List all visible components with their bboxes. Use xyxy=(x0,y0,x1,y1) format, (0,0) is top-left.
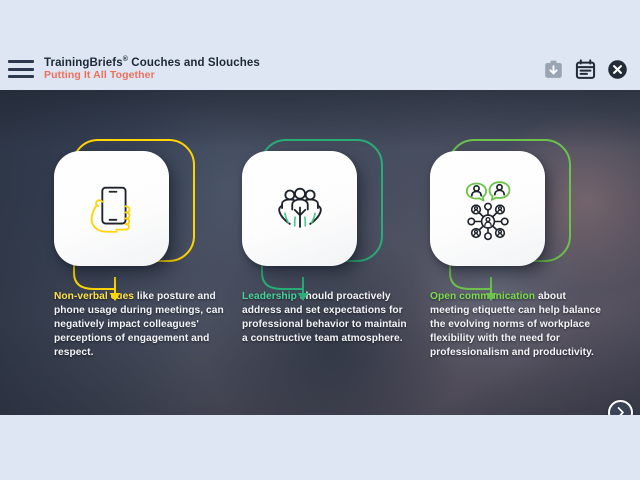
notes-calendar-icon[interactable] xyxy=(575,59,596,80)
hamburger-line xyxy=(8,68,34,71)
icon-card[interactable] xyxy=(430,151,545,266)
icon-card[interactable] xyxy=(54,151,169,266)
hamburger-line xyxy=(8,75,34,78)
title-course: Couches and Slouches xyxy=(128,57,260,69)
playback-controls xyxy=(608,400,633,415)
close-icon[interactable] xyxy=(607,59,628,80)
icon-card-wrap xyxy=(424,145,584,275)
content-columns: Non-verbal cues like posture and phone u… xyxy=(0,90,640,415)
header-bar: TrainingBriefs® Couches and Slouches Put… xyxy=(0,48,640,90)
next-button[interactable] xyxy=(608,400,633,415)
icon-card[interactable] xyxy=(242,151,357,266)
team-in-hands-icon xyxy=(269,178,331,240)
slide-stage: Non-verbal cues like posture and phone u… xyxy=(0,90,640,415)
icon-card-wrap xyxy=(48,145,208,275)
content-column: Leadership should proactively address an… xyxy=(236,90,428,415)
chevron-right-icon xyxy=(614,406,627,415)
phone-in-hand-icon xyxy=(81,178,143,240)
hamburger-line xyxy=(8,60,34,63)
header-icon-group xyxy=(543,59,628,80)
page-title: TrainingBriefs® Couches and Slouches xyxy=(44,56,543,70)
slide-player: TrainingBriefs® Couches and Slouches Put… xyxy=(0,0,640,480)
hamburger-menu-icon[interactable] xyxy=(8,59,34,79)
communication-network-icon xyxy=(456,177,520,241)
title-block: TrainingBriefs® Couches and Slouches Put… xyxy=(44,56,543,82)
content-column: Open communication about meeting etiquet… xyxy=(424,90,616,415)
icon-card-wrap xyxy=(236,145,396,275)
page-subtitle: Putting It All Together xyxy=(44,70,543,82)
title-brand: TrainingBriefs xyxy=(44,57,123,69)
download-icon[interactable] xyxy=(543,59,564,80)
content-column: Non-verbal cues like posture and phone u… xyxy=(48,90,240,415)
